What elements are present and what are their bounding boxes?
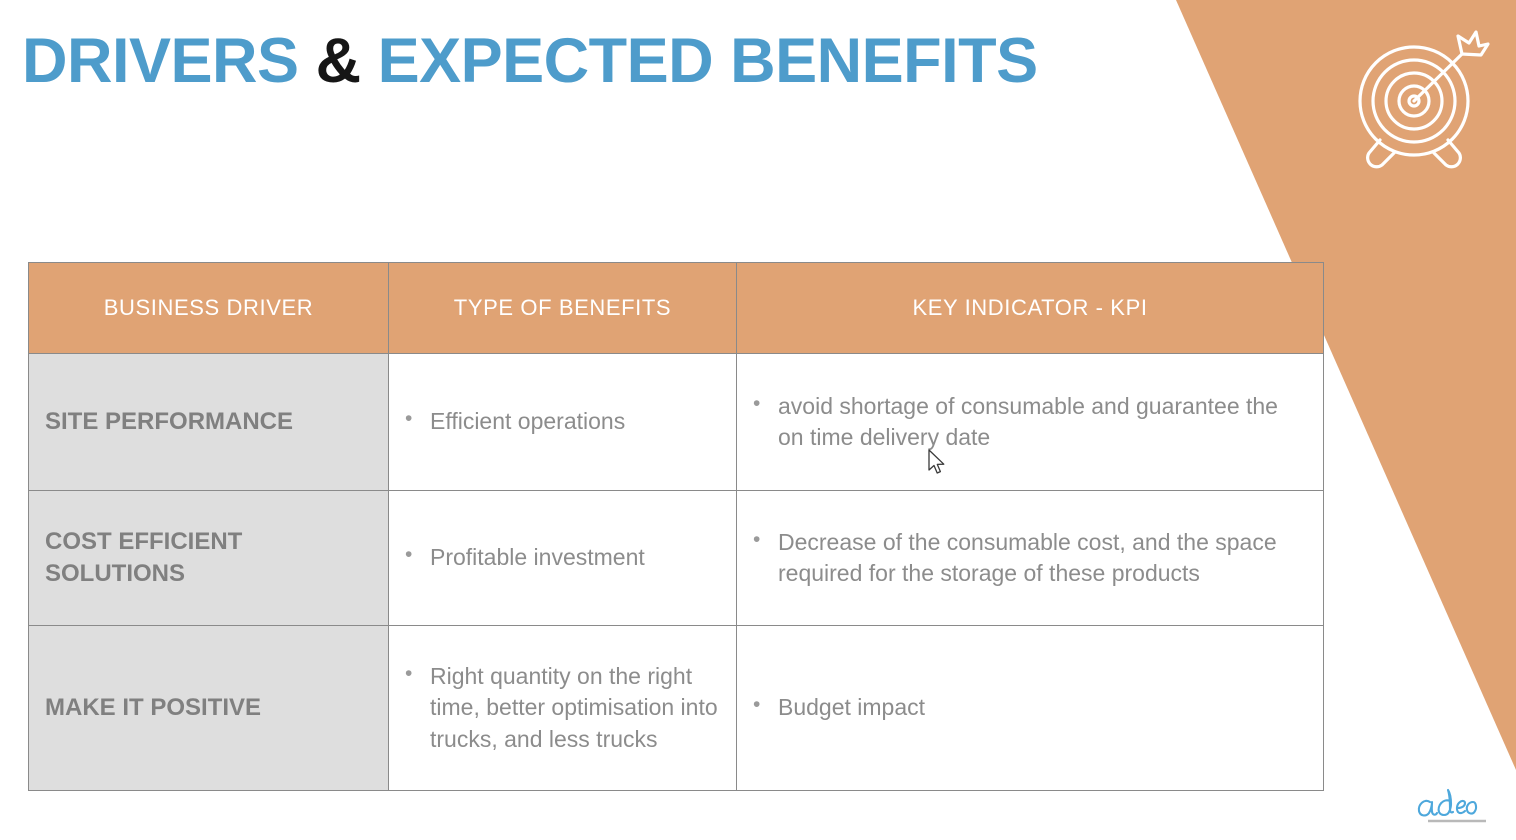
target-dartboard-arrow-icon xyxy=(1336,22,1492,178)
kpi-cell-cost-efficient-solutions: Decrease of the consumable cost, and the… xyxy=(737,491,1324,626)
adeo-logo-icon xyxy=(1416,788,1494,828)
table-row: COST EFFICIENT SOLUTIONS Profitable inve… xyxy=(29,491,1324,626)
page-title-part1: DRIVERS xyxy=(22,26,316,96)
table-header-row: BUSINESS DRIVER TYPE OF BENEFITS KEY IND… xyxy=(29,263,1324,354)
list-item: Budget impact xyxy=(747,692,1309,723)
table-row: MAKE IT POSITIVE Right quantity on the r… xyxy=(29,626,1324,791)
list-item: avoid shortage of consumable and guarant… xyxy=(747,391,1309,454)
kpi-bullet-list: Budget impact xyxy=(747,692,1309,723)
table-body: SITE PERFORMANCE Efficient operations av… xyxy=(29,354,1324,791)
column-header-type-of-benefits: TYPE OF BENEFITS xyxy=(389,263,737,354)
slide-canvas: DRIVERS & EXPECTED BENEFITS BUSINESS DRI… xyxy=(0,0,1516,840)
table-row: SITE PERFORMANCE Efficient operations av… xyxy=(29,354,1324,491)
benefits-bullet-list: Profitable investment xyxy=(399,542,722,573)
benefits-bullet-list: Efficient operations xyxy=(399,406,722,437)
benefits-cell-make-it-positive: Right quantity on the right time, better… xyxy=(389,626,737,791)
driver-name-cost-efficient-solutions: COST EFFICIENT SOLUTIONS xyxy=(29,491,389,626)
benefits-bullet-list: Right quantity on the right time, better… xyxy=(399,661,722,755)
kpi-cell-site-performance: avoid shortage of consumable and guarant… xyxy=(737,354,1324,491)
page-title: DRIVERS & EXPECTED BENEFITS xyxy=(22,28,1038,94)
list-item: Profitable investment xyxy=(399,542,722,573)
list-item: Efficient operations xyxy=(399,406,722,437)
benefits-cell-site-performance: Efficient operations xyxy=(389,354,737,491)
kpi-bullet-list: Decrease of the consumable cost, and the… xyxy=(747,527,1309,590)
drivers-benefits-table: BUSINESS DRIVER TYPE OF BENEFITS KEY IND… xyxy=(28,262,1324,791)
driver-name-site-performance: SITE PERFORMANCE xyxy=(29,354,389,491)
benefits-cell-cost-efficient-solutions: Profitable investment xyxy=(389,491,737,626)
page-title-part2: EXPECTED BENEFITS xyxy=(361,26,1038,96)
table-header: BUSINESS DRIVER TYPE OF BENEFITS KEY IND… xyxy=(29,263,1324,354)
column-header-key-indicator-kpi: KEY INDICATOR - KPI xyxy=(737,263,1324,354)
list-item: Right quantity on the right time, better… xyxy=(399,661,722,755)
driver-name-make-it-positive: MAKE IT POSITIVE xyxy=(29,626,389,791)
kpi-bullet-list: avoid shortage of consumable and guarant… xyxy=(747,391,1309,454)
kpi-cell-make-it-positive: Budget impact xyxy=(737,626,1324,791)
page-title-ampersand: & xyxy=(316,26,361,96)
list-item: Decrease of the consumable cost, and the… xyxy=(747,527,1309,590)
column-header-business-driver: BUSINESS DRIVER xyxy=(29,263,389,354)
